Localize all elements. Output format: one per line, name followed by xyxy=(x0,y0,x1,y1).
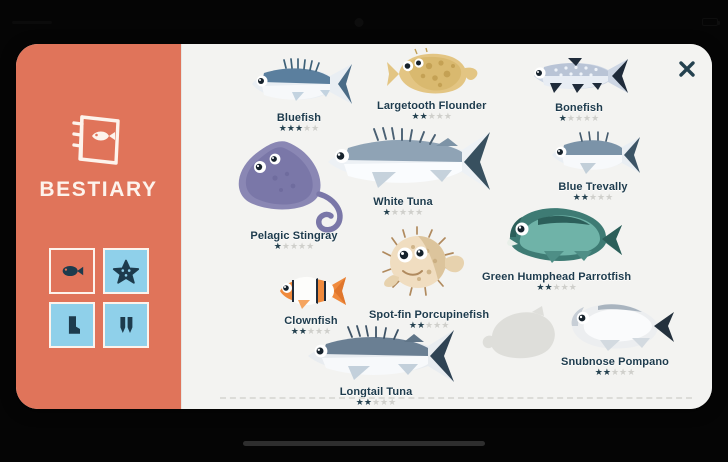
category-junk[interactable] xyxy=(49,302,95,348)
book-fish-icon xyxy=(68,108,130,170)
home-indicator[interactable] xyxy=(243,441,485,446)
clownfish-art xyxy=(268,269,354,315)
category-misc[interactable] xyxy=(103,302,149,348)
category-fish[interactable] xyxy=(49,248,95,294)
close-icon xyxy=(677,59,697,79)
blue-trevally-art xyxy=(538,129,648,181)
boot-icon xyxy=(60,313,84,337)
spot-fin-porcupinefish-art xyxy=(367,229,489,309)
status-camera-icon xyxy=(355,18,364,27)
status-bar-right xyxy=(696,18,718,26)
entry-bluefish[interactable]: Bluefish ★★★★★ xyxy=(234,56,364,133)
sidebar: BESTIARY xyxy=(16,44,181,409)
largetooth-flounder-art xyxy=(377,48,486,100)
pelagic-stingray-art xyxy=(227,136,367,236)
battery-icon xyxy=(702,18,718,26)
bluefish-art xyxy=(234,56,364,112)
entry-bonefish[interactable]: Bonefish ★★★★★ xyxy=(520,50,638,123)
entry-longtail-tuna[interactable]: Longtail Tuna ★★★★★ xyxy=(294,324,464,407)
device-screen: BESTIARY xyxy=(0,0,728,462)
fish-icon xyxy=(58,257,86,285)
status-bar-left xyxy=(6,21,52,24)
status-bar-center xyxy=(355,18,374,27)
entry-blue-trevally[interactable]: Blue Trevally ★★★★★ xyxy=(538,129,648,202)
entry-stars: ★★★★★ xyxy=(520,113,638,123)
entry-stars: ★★★★★ xyxy=(221,241,367,251)
bestiary-window: BESTIARY xyxy=(16,44,712,409)
entry-green-humphead-parrotfish[interactable]: Green Humphead Parrotfish ★★★★★ xyxy=(482,199,631,292)
entry-stars: ★★★★★ xyxy=(482,282,631,292)
longtail-tuna-art xyxy=(294,324,464,386)
entry-stars: ★★★★★ xyxy=(550,367,680,377)
page-divider xyxy=(220,397,692,399)
entry-stars: ★★★★★ xyxy=(377,111,486,121)
entry-largetooth-flounder[interactable]: Largetooth Flounder ★★★★★ xyxy=(377,48,486,121)
bonefish-art xyxy=(520,50,638,102)
close-button[interactable] xyxy=(676,58,698,80)
entry-pelagic-stingray[interactable]: Pelagic Stingray ★★★★★ xyxy=(227,136,367,251)
green-humphead-parrotfish-art xyxy=(482,199,631,271)
bestiary-grid: Bluefish ★★★★★ xyxy=(181,44,712,409)
starfish-icon xyxy=(113,258,139,284)
entry-snubnose-pompano[interactable]: Snubnose Pompano ★★★★★ xyxy=(550,294,680,377)
category-tiles xyxy=(49,248,149,348)
status-signal-icon xyxy=(12,21,52,24)
quote-icon xyxy=(114,313,138,337)
status-bar xyxy=(0,0,728,44)
snubnose-pompano-art xyxy=(550,294,680,356)
page-title: BESTIARY xyxy=(39,178,157,202)
category-starfish[interactable] xyxy=(103,248,149,294)
entry-spot-fin-porcupinefish[interactable]: Spot-fin Porcupinefish ★★★★★ xyxy=(367,229,489,330)
